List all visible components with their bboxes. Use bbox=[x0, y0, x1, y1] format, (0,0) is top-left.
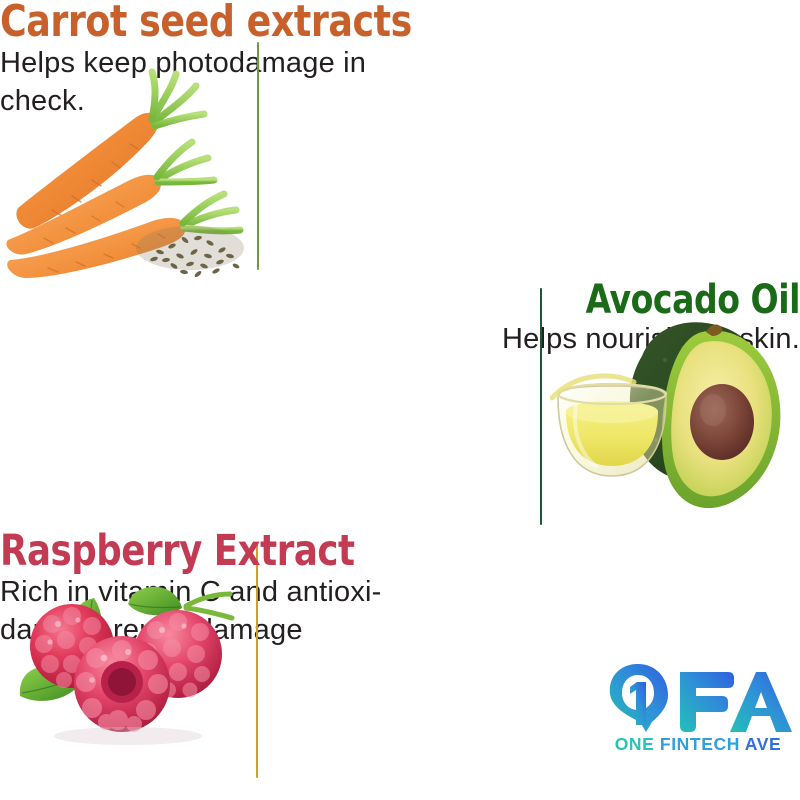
poster-canvas: Carrot seed extracts Helps keep photodam… bbox=[0, 0, 800, 800]
heading-raspberry-extract: Raspberry Extract bbox=[0, 530, 736, 573]
logo-mark-1fa bbox=[606, 662, 792, 734]
divider-carrot bbox=[257, 42, 259, 270]
one-fintech-ave-logo[interactable]: ONE FINTECH AVE bbox=[600, 662, 796, 766]
logo-1fa-icon bbox=[606, 662, 792, 734]
carrots-illustration bbox=[0, 40, 250, 290]
raspberries-illustration bbox=[10, 550, 240, 750]
section-carrot-seed-extracts: Carrot seed extracts Helps keep photodam… bbox=[0, 0, 800, 280]
section-avocado-oil: Avocado Oil Helps nourish the skin. bbox=[0, 280, 800, 530]
divider-raspberry bbox=[256, 542, 258, 778]
raspberry-front bbox=[74, 636, 170, 732]
logo-tagline-ave: AVE bbox=[745, 734, 781, 754]
heading-carrot-seed-extracts: Carrot seed extracts bbox=[0, 0, 736, 44]
divider-avocado bbox=[540, 288, 542, 525]
raspberries-photo bbox=[10, 550, 240, 750]
carrots-and-seeds-photo bbox=[0, 40, 250, 290]
carrot-seeds-pile bbox=[136, 226, 244, 278]
avocado-illustration bbox=[550, 290, 800, 520]
logo-tagline-fintech: FINTECH bbox=[660, 734, 740, 754]
logo-tagline-one: ONE bbox=[615, 734, 655, 754]
avocado-and-oil-bowl-photo bbox=[550, 290, 800, 520]
logo-tagline: ONE FINTECH AVE bbox=[600, 734, 796, 755]
